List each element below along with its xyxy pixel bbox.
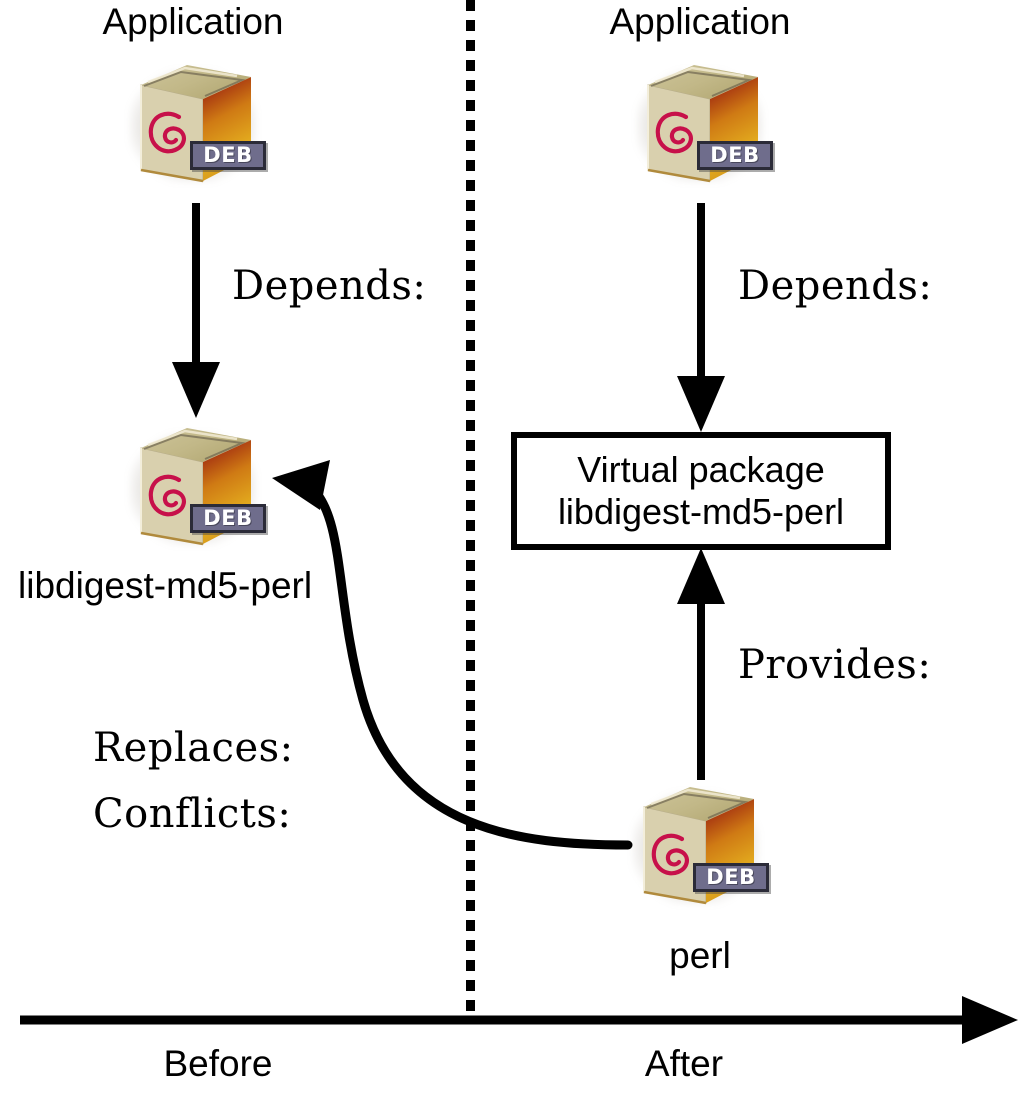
- timeline-axis-arrow: [20, 996, 1018, 1044]
- package-icon-application-left[interactable]: DEB: [117, 55, 269, 191]
- deb-badge-label: DEB: [706, 867, 755, 888]
- title-application-right: Application: [609, 2, 790, 42]
- label-provides: Provides:: [738, 644, 931, 687]
- debian-package-glyph: [620, 777, 772, 913]
- deb-badge: DEB: [697, 141, 773, 170]
- label-perl: perl: [669, 936, 731, 976]
- label-depends-right: Depends:: [738, 265, 932, 308]
- deb-badge: DEB: [190, 141, 266, 170]
- label-replaces: Replaces:: [93, 727, 294, 770]
- axis-label-before: Before: [163, 1044, 272, 1084]
- title-application-left: Application: [102, 2, 283, 42]
- virtual-package-box[interactable]: Virtual package libdigest-md5-perl: [511, 432, 891, 550]
- virtual-package-line-1: Virtual package: [577, 449, 825, 491]
- arrow-provides: [677, 548, 725, 780]
- label-conflicts: Conflicts:: [93, 793, 291, 836]
- before-after-divider: [466, 0, 475, 1024]
- virtual-package-line-2: libdigest-md5-perl: [558, 491, 844, 533]
- deb-badge-label: DEB: [710, 145, 759, 166]
- debian-package-glyph: [117, 418, 269, 554]
- arrow-depends-right: [677, 203, 725, 432]
- label-libdigest-md5-perl: libdigest-md5-perl: [18, 566, 312, 606]
- deb-badge: DEB: [693, 863, 769, 892]
- debian-package-glyph: [117, 55, 269, 191]
- package-icon-libdigest-md5-perl[interactable]: DEB: [117, 418, 269, 554]
- diagram-canvas: Application Application: [0, 0, 1024, 1094]
- axis-label-after: After: [645, 1044, 723, 1084]
- label-depends-left: Depends:: [232, 265, 426, 308]
- package-icon-application-right[interactable]: DEB: [624, 55, 776, 191]
- arrow-depends-left: [172, 203, 220, 418]
- deb-badge-label: DEB: [203, 508, 252, 529]
- deb-badge-label: DEB: [203, 145, 252, 166]
- deb-badge: DEB: [190, 504, 266, 533]
- package-icon-perl[interactable]: DEB: [620, 777, 772, 913]
- debian-package-glyph: [624, 55, 776, 191]
